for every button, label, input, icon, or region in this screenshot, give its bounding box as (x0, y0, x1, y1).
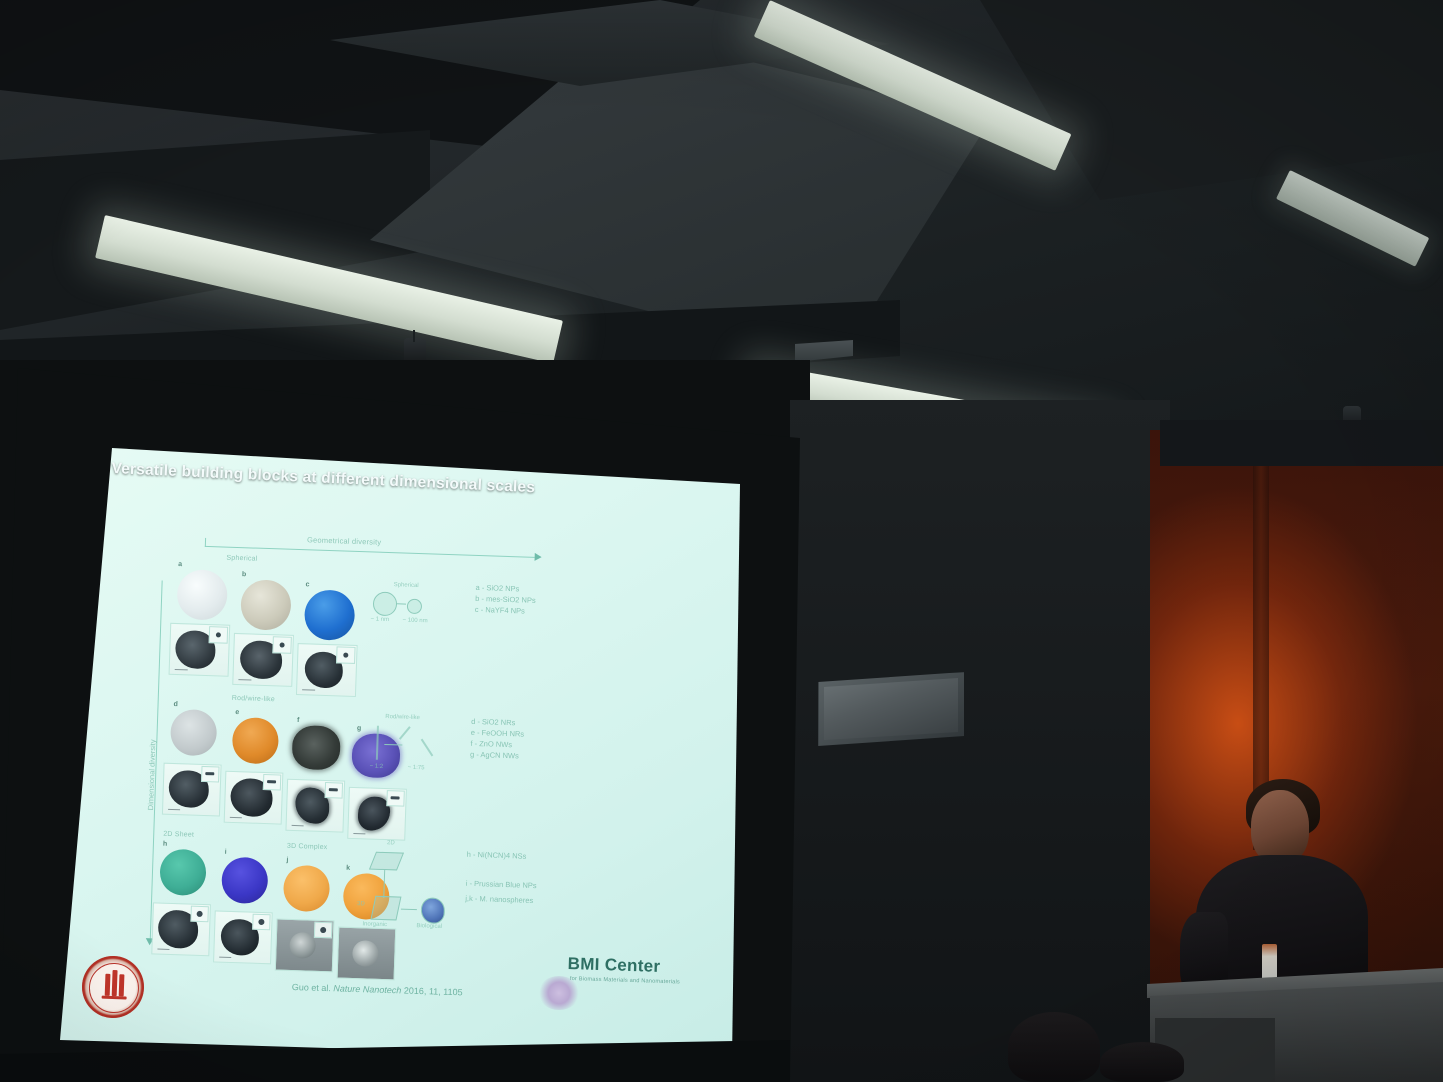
projection-screen: Versatile building blocks at different d… (60, 448, 740, 1060)
panel-letter-c: c (305, 581, 309, 588)
spherical-inset-small-sphere (407, 599, 422, 614)
complex-inset-sub-left: Inorganic (362, 921, 387, 928)
legend-group-1: a - SiO2 NPs b - mes-SiO2 NPs c - NaYF4 … (475, 583, 536, 618)
micrograph-h (151, 902, 211, 956)
vial-e (232, 717, 279, 764)
citation-journal: Nature Nanotech (333, 983, 401, 995)
scale-bar (175, 668, 188, 670)
row-label-spherical: Spherical (226, 555, 257, 563)
inset-particle (205, 772, 214, 775)
panel-letter-e: e (235, 709, 239, 716)
micrograph-inset (201, 766, 220, 783)
micrograph-b (232, 633, 294, 687)
micrograph-e (224, 771, 284, 825)
seal-emblem-1 (105, 974, 111, 996)
slide-figure: Geometrical diversity Dimensional divers… (132, 510, 707, 998)
inset-particle (258, 919, 264, 925)
micrograph-j (275, 918, 335, 972)
micrograph-inset (386, 790, 405, 807)
row-label-2d-sheet: 2D Sheet (163, 831, 194, 839)
micrograph-g (347, 787, 407, 841)
vial-a (176, 569, 228, 621)
legend-item: j,k - M. nanospheres (465, 891, 536, 908)
inset-particle (197, 911, 203, 917)
micrograph-inset (325, 782, 344, 799)
wall-picture-image (824, 678, 958, 740)
vial-i (221, 857, 268, 904)
inset-particle (391, 796, 400, 799)
citation-author: Guo et al. (292, 982, 331, 993)
complex-inset-label-3d: 3D (357, 901, 365, 907)
axis-vertical-label: Dimensional diversity (146, 739, 157, 810)
complex-inset-arrow-right (401, 909, 417, 911)
audience-head-1 (1008, 1012, 1100, 1082)
inset-particle (320, 927, 326, 933)
micrograph-inset (209, 626, 229, 644)
vial-f (291, 725, 340, 771)
citation-detail: 2016, 11, 1105 (404, 986, 463, 998)
panel-letter-j: j (286, 857, 288, 864)
spherical-inset-label: Spherical (394, 582, 419, 589)
inset-particle (216, 632, 221, 637)
vial-b (240, 579, 292, 631)
legend-group-3: h - Ni(NCN)4 NSs i - Prussian Blue NPs j… (465, 847, 538, 908)
legend-item: c - NaYF4 NPs (475, 605, 536, 618)
panel-letter-h: h (163, 841, 168, 848)
rodwire-inset-wire (399, 726, 411, 740)
spherical-inset-dim-right: ~ 100 nm (402, 617, 427, 624)
micrograph-a (169, 623, 231, 677)
scale-bar (238, 679, 251, 681)
row-label-rodwire: Rod/wire-like (232, 695, 275, 703)
spherical-inset-dim-left: ~ 1 nm (370, 616, 389, 623)
axis-horizontal-label: Geometrical diversity (307, 535, 381, 546)
micrograph-d (162, 763, 222, 817)
row-label-3d-complex: 3D Complex (287, 843, 328, 851)
vial-h (159, 849, 206, 896)
speaker-head (1251, 790, 1309, 864)
micrograph-k (337, 927, 397, 981)
vial-d (170, 709, 217, 756)
vial-c (304, 589, 356, 641)
legend-group-2: d - SiO2 NRs e - FeOOH NRs f - ZnO NWs g… (470, 717, 525, 762)
panel-letter-k: k (346, 865, 350, 872)
brand-name: BMI Center (567, 954, 660, 977)
micrograph-inset (314, 922, 333, 939)
micrograph-inset (336, 646, 356, 664)
vial-j (283, 865, 330, 912)
ceiling-wire-1 (413, 330, 415, 342)
micrograph-c (296, 643, 358, 697)
particle-blob (289, 932, 316, 959)
panel-letter-b: b (242, 571, 247, 578)
inset-particle (267, 780, 276, 783)
complex-inset-sheet-2d (369, 852, 404, 871)
complex-inset-bio-sphere (420, 897, 445, 924)
rodwire-inset-dim-left: ~ 1:2 (370, 763, 384, 769)
legend-item: g - AgCN NWs (470, 749, 524, 762)
spherical-inset-big-sphere (373, 592, 398, 617)
panel-letter-g: g (357, 725, 362, 732)
micrograph-inset (272, 636, 292, 654)
micrograph-inset (190, 906, 209, 923)
photo-scene: Versatile building blocks at different d… (0, 0, 1443, 1082)
scale-bar (157, 948, 169, 950)
rodwire-inset-label: Rod/wire-like (385, 714, 420, 721)
audience-head-2 (1100, 1042, 1184, 1082)
scale-bar (292, 824, 304, 826)
micrograph-i (213, 910, 273, 964)
rodwire-inset-wire-2 (421, 739, 434, 757)
wall-upper-strip (1160, 420, 1443, 466)
panel-letter-a: a (178, 561, 182, 568)
rodwire-inset-dim-right: ~ 1:75 (407, 765, 424, 772)
scale-bar (302, 689, 315, 691)
panel-letter-i: i (225, 849, 227, 856)
complex-inset-sub-right: Biological (416, 923, 442, 930)
micrograph-f (285, 779, 345, 833)
seal-emblem-3 (119, 974, 125, 996)
scale-bar (353, 832, 365, 834)
spherical-inset-arrow (397, 603, 406, 604)
micrograph-inset (252, 914, 271, 931)
micrograph-inset (263, 774, 282, 791)
inset-particle (329, 788, 338, 791)
seal-emblem-2 (112, 970, 118, 996)
legend-item: h - Ni(NCN)4 NSs (467, 847, 538, 864)
panel-letter-f: f (297, 717, 300, 724)
axis-horizontal-arrow (535, 553, 542, 561)
inset-particle (280, 642, 285, 647)
inset-particle (343, 653, 348, 658)
scale-bar (230, 816, 242, 818)
panel-letter-d: d (173, 701, 178, 708)
complex-inset-label-2d: 2D (387, 840, 395, 846)
scale-bar (219, 956, 231, 958)
scale-bar (168, 808, 180, 810)
complex-inset-cube-3d (370, 896, 401, 921)
particle-blob (352, 940, 379, 967)
